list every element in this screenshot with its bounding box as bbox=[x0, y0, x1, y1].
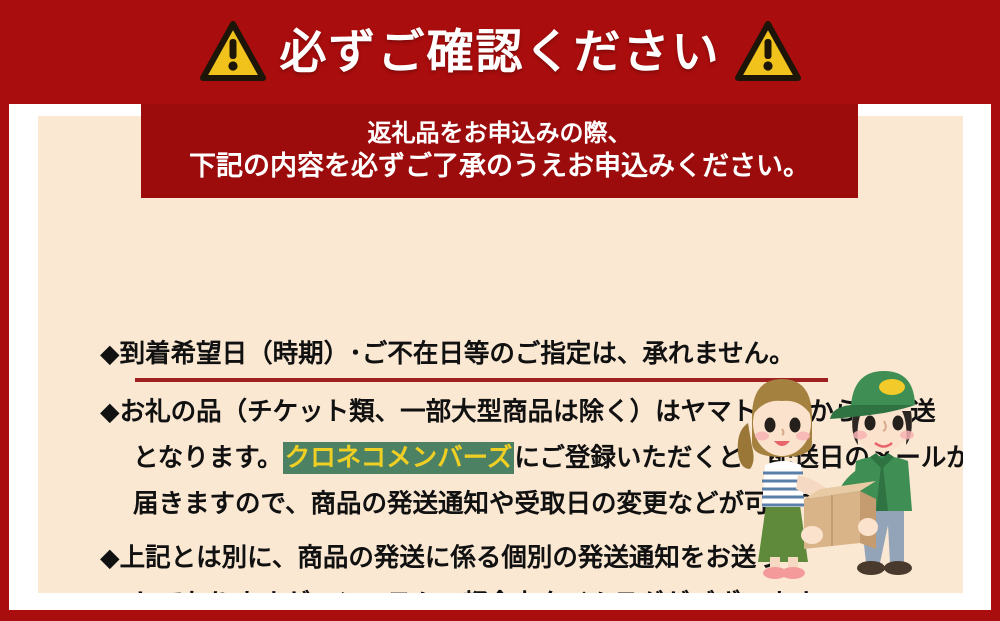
page-title: 必ずご確認ください bbox=[280, 29, 721, 76]
bullet-marker: ◆ bbox=[100, 339, 120, 369]
header-band: 必ずご確認ください bbox=[0, 0, 1000, 104]
subtitle-line-2: 下記の内容を必ずご了承のうえお申込みください。 bbox=[189, 151, 810, 182]
delivery-handoff-illustration bbox=[708, 357, 953, 582]
kuroneko-members-highlight[interactable]: クロネコメンバーズ bbox=[283, 442, 515, 474]
bullet-3-line-2: しておりますが、システムの都合上タイムラグがございます bbox=[100, 581, 963, 593]
bullet-2-line-2-prefix: となります。 bbox=[133, 443, 283, 473]
warning-triangle-icon bbox=[200, 21, 266, 83]
notice-screen: ◆到着希望日（時期）･ご不在日等のご指定は、承れません。 ◆お礼の品（チケット類… bbox=[0, 0, 1000, 621]
bullet-marker: ◆ bbox=[100, 543, 120, 573]
bullet-marker: ◆ bbox=[100, 397, 120, 427]
bullet-1-line-1: 到着希望日（時期）･ご不在日等のご指定は、承れません。 bbox=[120, 339, 795, 369]
subtitle-line-1: 返礼品をお申込みの際、 bbox=[368, 120, 632, 148]
warning-triangle-icon bbox=[735, 21, 801, 83]
subtitle-banner: 返礼品をお申込みの際、 下記の内容を必ずご了承のうえお申込みください。 bbox=[141, 104, 858, 198]
frame-border-bottom bbox=[0, 610, 1000, 621]
bullet-3-line-1: 上記とは別に、商品の発送に係る個別の発送通知をお送り bbox=[120, 543, 782, 573]
